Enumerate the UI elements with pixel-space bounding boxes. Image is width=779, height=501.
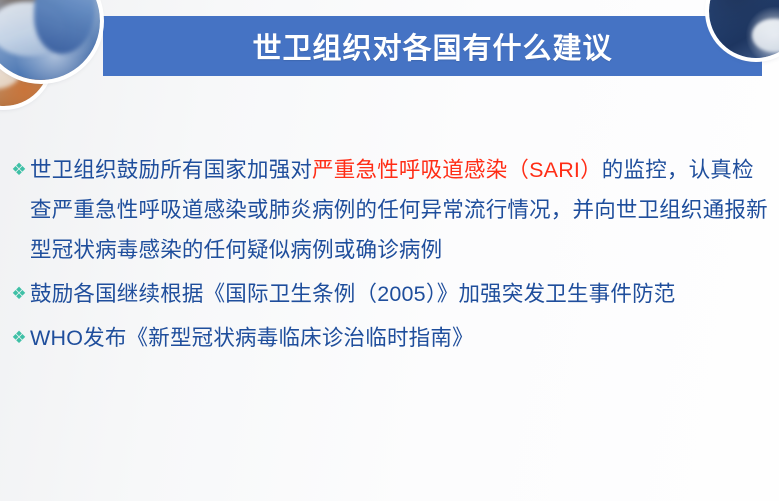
diamond-bullet-icon: ❖ — [8, 274, 30, 314]
photo-circle-medical-worker — [0, 0, 100, 80]
bullet-1-segment-highlight: 严重急性呼吸道感染（SARI） — [312, 158, 602, 182]
bullet-list: ❖ 世卫组织鼓励所有国家加强对严重急性呼吸道感染（SARI）的监控，认真检查严重… — [0, 150, 779, 358]
list-item-text: WHO发布《新型冠状病毒临床诊治临时指南》 — [30, 318, 773, 358]
list-item: ❖ WHO发布《新型冠状病毒临床诊治临时指南》 — [0, 318, 779, 358]
diamond-bullet-icon: ❖ — [8, 150, 30, 190]
bullet-3-segment-1: WHO发布《新型冠状病毒临床诊治临时指南》 — [30, 326, 474, 350]
list-item: ❖ 鼓励各国继续根据《国际卫生条例（2005）》加强突发卫生事件防范 — [0, 274, 779, 314]
list-item: ❖ 世卫组织鼓励所有国家加强对严重急性呼吸道感染（SARI）的监控，认真检查严重… — [0, 150, 779, 270]
slide-title: 世卫组织对各国有什么建议 — [103, 16, 762, 76]
bullet-1-segment-1: 世卫组织鼓励所有国家加强对 — [30, 158, 312, 182]
list-item-text: 鼓励各国继续根据《国际卫生条例（2005）》加强突发卫生事件防范 — [30, 274, 773, 314]
slide-canvas: 世卫组织对各国有什么建议 ❖ 世卫组织鼓励所有国家加强对严重急性呼吸道感染（SA… — [0, 0, 779, 501]
bullet-2-segment-1: 鼓励各国继续根据《国际卫生条例（2005）》加强突发卫生事件防范 — [30, 282, 675, 306]
list-item-text: 世卫组织鼓励所有国家加强对严重急性呼吸道感染（SARI）的监控，认真检查严重急性… — [30, 150, 773, 270]
diamond-bullet-icon: ❖ — [8, 318, 30, 358]
photo-circle-medical-worker-image — [0, 0, 100, 80]
